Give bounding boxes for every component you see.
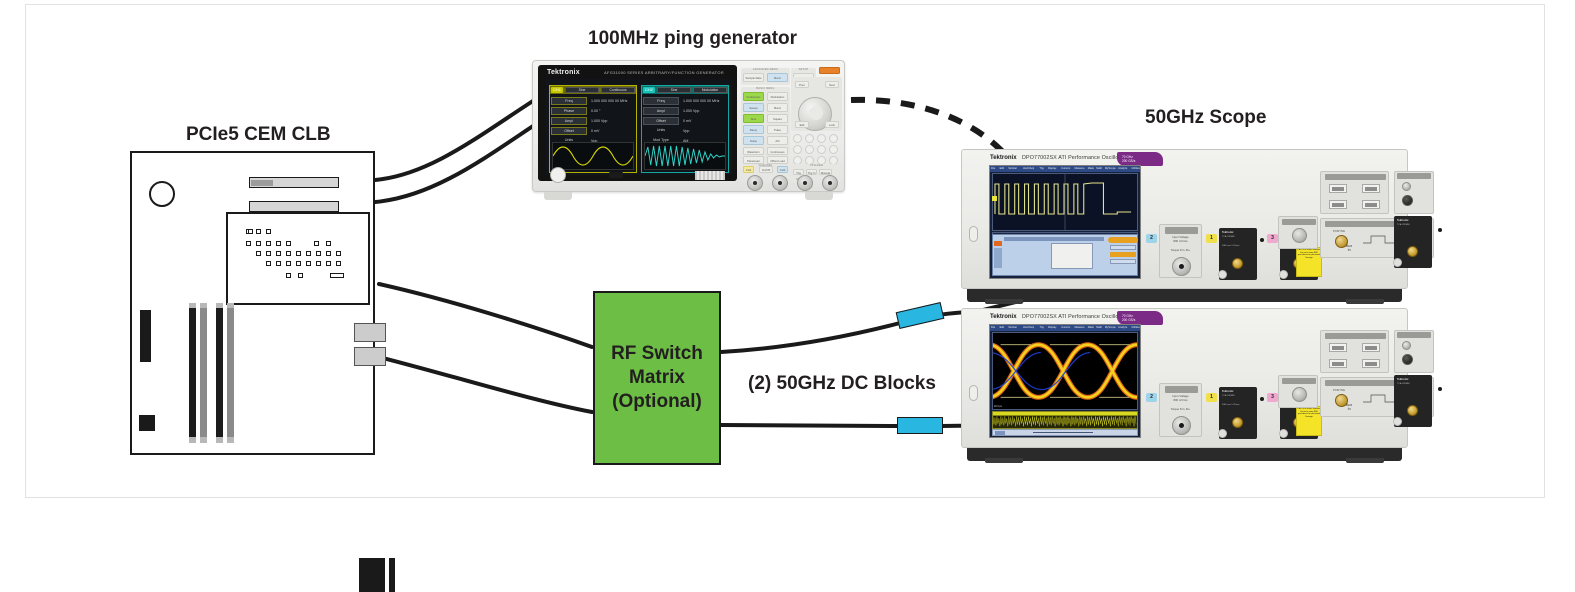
afg-ch1-value[interactable]: 1.000 Vpp — [589, 117, 635, 125]
asic-pad — [326, 251, 331, 256]
scope2-channel-tag-1: 1 — [1206, 393, 1217, 402]
afg-usb-port[interactable] — [609, 172, 623, 178]
scope1-usb-port-1[interactable] — [1329, 184, 1347, 193]
afg-key-enter[interactable] — [829, 145, 838, 154]
scope1-graticule — [992, 173, 1138, 231]
afg-channel-2-pane[interactable]: CH2 Sine Modulation Freq1.000 000 000 00… — [641, 85, 729, 173]
afg-ch2-row: Offset0 mV — [643, 116, 727, 125]
scope1-ati-voltage-label: Input Voltage800 mVrms — [1160, 236, 1201, 243]
label-generator: 100MHz ping generator — [588, 28, 797, 50]
afg-feet — [532, 192, 845, 200]
afg-button-lock[interactable]: Lock — [825, 121, 839, 128]
asic-pad — [314, 241, 319, 246]
asic-pad — [296, 261, 301, 266]
afg-button-on-off[interactable]: On/Off — [759, 166, 773, 173]
afg-group-basic-menu: BASIC MENU Continuous Modulation Sweep B… — [741, 87, 790, 163]
afg-ch1-rows: Freq1.000 000 000 00 MHz Phase0.00 ° Amp… — [551, 96, 635, 146]
afg-button-trig-in[interactable]: Trig In — [806, 169, 817, 175]
afg-ch1-value[interactable]: 0 mV — [589, 127, 635, 135]
scope1-menu-item[interactable]: Analyze — [1118, 167, 1127, 170]
scope2-menu-item[interactable]: Display — [1048, 326, 1057, 329]
afg-ch1-row: Freq1.000 000 000 00 MHz — [551, 96, 635, 105]
scope2-menu-item[interactable]: Cursors — [1061, 326, 1070, 329]
scope1-ati-torque-label: Torque 8 in. lbs. — [1160, 248, 1201, 252]
afg-button-prev[interactable]: Prev — [795, 81, 809, 88]
afg-ch2-row: Ampl1.000 Vpp — [643, 106, 727, 115]
cable-rfsw-to-dcblock-2 — [721, 425, 898, 426]
asic-pad — [256, 229, 261, 234]
asic-pad — [256, 241, 261, 246]
scope2-module-1[interactable]: Tektronix TCA-292MM 50Ω max 1.0Vrms — [1219, 387, 1257, 439]
scope2-menu-item[interactable]: Vertical — [1008, 326, 1017, 329]
scope2-module-1-latch[interactable] — [1218, 429, 1227, 438]
scope1-channel-tag-1: 1 — [1206, 234, 1217, 243]
oscilloscope-1[interactable]: Tektronix DPO77002SX ATI Performance Osc… — [961, 149, 1408, 304]
scope2-menu-item[interactable]: Measure — [1074, 326, 1084, 329]
afg-group-label: TRIGGER — [791, 164, 842, 167]
scope1-menu-item[interactable]: Horiz/Acq — [1023, 167, 1034, 170]
afg-group-label: SETUP — [791, 68, 816, 71]
afg-group-label: ADVANCED MENU — [741, 68, 790, 71]
afg-power-button[interactable] — [550, 167, 566, 183]
dimm-slot[interactable] — [189, 303, 196, 443]
afg-ch1-key[interactable]: Phase — [551, 107, 587, 115]
pcie-slot-1 — [249, 177, 339, 188]
afg-key-6[interactable] — [817, 145, 826, 154]
scope1-feet — [967, 289, 1402, 302]
afg-ch1-row: Phase0.00 ° — [551, 106, 635, 115]
scope2-module-1-jack[interactable] — [1232, 417, 1243, 428]
pcie-slot-2 — [249, 201, 339, 212]
afg-button-next[interactable]: Next — [825, 81, 839, 88]
scope1-usb-port-2[interactable] — [1362, 184, 1380, 193]
scope1-dc-cal-jack[interactable] — [1292, 228, 1307, 243]
afg-output-ch1-bnc[interactable] — [747, 175, 763, 191]
afg-ch2-waveform-preview — [644, 142, 726, 170]
label-dc-blocks: (2) 50GHz DC Blocks — [748, 373, 936, 395]
scope2-aux-out-jack[interactable] — [1402, 341, 1411, 350]
cable-clb-to-afg-2 — [375, 124, 536, 202]
scope1-control-panel[interactable] — [992, 234, 1138, 276]
scope2-menu-item[interactable]: Utilities — [1131, 326, 1139, 329]
scope2-menu-item[interactable]: File — [991, 326, 995, 329]
afg-ch2-key[interactable]: Units — [643, 127, 679, 135]
scope1-aux-in-label: AuxIn — [1346, 244, 1352, 253]
scope2-probe-comp-jack[interactable] — [1402, 354, 1413, 365]
afg-button-waveform-memory[interactable]: Waveform Memory — [743, 147, 764, 155]
scope1-module-1-latch[interactable] — [1218, 270, 1227, 279]
sma-connector-1[interactable] — [354, 323, 386, 342]
scope2-feet — [967, 448, 1402, 461]
scope1-menu-item[interactable]: Utilities — [1131, 167, 1139, 170]
afg-channel-1-pane[interactable]: CH1 Sine Continuous Freq1.000 000 000 00… — [549, 85, 637, 173]
diagram-canvas: PCIe5 CEM CLB 100MHz ping generator 50GH… — [0, 0, 1575, 522]
cable-rfsw-to-dcblock-1 — [721, 323, 900, 352]
scope2-menu-item[interactable]: Trig — [1039, 326, 1043, 329]
afg-button-arb[interactable]: Arb — [767, 136, 788, 145]
afg-ch1-row: Ampl1.000 Vpp — [551, 116, 635, 125]
scope2-density-plot — [992, 411, 1138, 429]
afg-button-ch1[interactable]: CH1 — [743, 166, 754, 173]
afg-ch2-row: UnitsVpp — [643, 126, 727, 135]
afg-button-pulse[interactable]: Pulse — [767, 125, 788, 134]
afg-button-offset-load[interactable]: Offset Load — [767, 156, 788, 164]
afg-display-bezel: Tektronix AFG31000 SERIES ARBITRARY/FUNC… — [538, 65, 737, 181]
afg-group-label: BASIC MENU — [741, 87, 790, 90]
asic-pad — [306, 251, 311, 256]
afg-vent-grille — [695, 171, 725, 180]
afg-ch1-waveform-preview — [552, 142, 634, 170]
asic-pad — [276, 241, 281, 246]
scope1-channel-tag-2: 2 — [1146, 234, 1157, 243]
scope1-menu-item[interactable]: Math — [1096, 167, 1102, 170]
pcie5-cem-clb-board[interactable] — [130, 151, 375, 455]
scope2-screen[interactable]: FileEditVerticalHoriz/AcqTrigDisplayCurs… — [989, 324, 1141, 438]
asic-pad-wide — [330, 273, 344, 278]
edge-connector-left — [140, 310, 151, 362]
asic-pad — [286, 273, 291, 278]
scope2-badge-text: 70 GHz200 GS/s — [1122, 314, 1135, 323]
scope1-menubar[interactable]: FileEditVerticalHoriz/AcqTrigDisplayCurs… — [990, 166, 1140, 172]
scope1-aux-module-latch[interactable] — [1393, 258, 1402, 267]
scope2-caution-label: CAUTION Static Sensitive Use wrist strap… — [1296, 406, 1322, 436]
scope2-dot-3 — [1438, 387, 1442, 391]
afg-button-burst2[interactable]: Burst — [767, 103, 788, 112]
scope1-aux-out-panel[interactable] — [1394, 171, 1434, 214]
afg-button-ch2[interactable]: CH2 — [777, 166, 788, 173]
scope1-caution-label: CAUTION Static Sensitive Use wrist strap… — [1296, 247, 1322, 277]
asic-pad — [306, 261, 311, 266]
scope1-aux-module[interactable]: Tektronix TCA-292MM — [1394, 216, 1432, 268]
scope1-menu-item[interactable]: File — [991, 167, 995, 170]
afg-button-sweep[interactable]: Sweep — [743, 103, 764, 112]
afg-key-4[interactable] — [793, 145, 802, 154]
scope2-ati-jack[interactable] — [1172, 416, 1191, 435]
oscilloscope-2[interactable]: Tektronix DPO77002SX ATI Performance Osc… — [961, 308, 1408, 463]
afg-ch2-runmode-select[interactable]: Modulation — [693, 87, 727, 93]
scope1-aux-out-jack[interactable] — [1402, 182, 1411, 191]
afg-ch1-value[interactable]: 1.000 000 000 00 MHz — [589, 97, 635, 105]
afg-ch2-row: Freq1.000 000 000 00 MHz — [643, 96, 727, 105]
scope2-menu-item[interactable]: Math — [1096, 326, 1102, 329]
afg-group-advanced-menu: ADVANCED MENU Sample Rate Burst — [741, 68, 790, 85]
scope2-brand: Tektronix — [990, 314, 1017, 320]
scope2-channel-tag-2: 2 — [1146, 393, 1157, 402]
scope2-dot-1 — [1260, 397, 1264, 401]
afg-ch2-value[interactable]: 1.000 Vpp — [681, 107, 727, 115]
afg-ch1-tag: CH1 — [551, 87, 563, 93]
scope2-menu-item[interactable]: Analyze — [1118, 326, 1127, 329]
afg-ch1-waveform-select[interactable]: Sine — [565, 87, 599, 93]
afg-front-panel[interactable]: ADVANCED MENU Sample Rate Burst BASIC ME… — [741, 65, 842, 181]
afg-run-stop-button[interactable] — [819, 67, 840, 74]
arbitrary-function-generator[interactable]: Tektronix AFG31000 SERIES ARBITRARY/FUNC… — [532, 60, 845, 208]
afg-screen[interactable]: CH1 Sine Continuous Freq1.000 000 000 00… — [546, 79, 732, 175]
afg-ch2-value[interactable]: Vpp — [681, 127, 727, 135]
asic-pad — [326, 241, 331, 246]
afg-ch2-key[interactable]: Freq — [643, 97, 679, 105]
asic-pad — [246, 241, 251, 246]
afg-ch2-value[interactable]: 1.000 000 000 00 MHz — [681, 97, 727, 105]
scope1-menu-item[interactable]: Trig — [1039, 167, 1043, 170]
asic-pad — [316, 251, 321, 256]
scope1-channel-tag-3: 3 — [1267, 234, 1278, 243]
rf-switch-matrix[interactable]: RF SwitchMatrix(Optional) — [593, 291, 721, 465]
scope1-ati-cap — [1165, 227, 1198, 234]
afg-button-sine[interactable]: Sine — [743, 114, 764, 123]
scope2-aux-module[interactable]: Tektronix TCA-292MM — [1394, 375, 1432, 427]
asic-pad — [248, 229, 253, 234]
scope2-ati-input-port[interactable]: Input Voltage800 mVrms Torque 8 in. lbs. — [1159, 383, 1202, 437]
scope1-module-1[interactable]: Tektronix TCA-292MM 50Ω max 1.0Vrms — [1219, 228, 1257, 280]
scope1-menu-item[interactable]: Display — [1048, 167, 1057, 170]
afg-brand-text: Tektronix — [547, 69, 580, 76]
scope2-aux-out-panel[interactable] — [1394, 330, 1434, 373]
afg-ch1-header: CH1 Sine Continuous — [550, 86, 636, 94]
scope1-dot-3 — [1438, 228, 1442, 232]
afg-button-ramp[interactable]: Ramp — [743, 125, 764, 134]
afg-series-text: AFG31000 SERIES ARBITRARY/FUNCTION GENER… — [604, 70, 724, 75]
scope2-chassis: Tektronix DPO77002SX ATI Performance Osc… — [961, 308, 1408, 448]
scope1-module-2-latch[interactable] — [1279, 270, 1288, 279]
afg-button-continuous[interactable]: Continuous — [743, 92, 764, 101]
scope1-chassis: Tektronix DPO77002SX ATI Performance Osc… — [961, 149, 1408, 289]
scope1-badge-text: 70 GHz200 GS/s — [1122, 155, 1135, 164]
scope1-menu-item[interactable]: Measure — [1074, 167, 1084, 170]
cable-clb-to-rfsw-1 — [379, 284, 592, 347]
scope2-usb-port-4[interactable] — [1362, 359, 1380, 368]
afg-ext-mod-bnc[interactable] — [822, 175, 838, 191]
asic-pad — [266, 241, 271, 246]
afg-ch1-key[interactable]: Freq — [551, 97, 587, 105]
edge-connector-bottom-fin — [389, 558, 395, 592]
scope2-menu-item[interactable]: Edit — [1000, 326, 1004, 329]
scope2-badge: 70 GHz200 GS/s — [1117, 311, 1163, 325]
afg-ch2-tag: CH2 — [643, 87, 655, 93]
asic-pad — [256, 251, 261, 256]
afg-button-sample-rate[interactable]: Sample Rate — [743, 73, 764, 82]
afg-key-units[interactable] — [829, 134, 838, 143]
afg-key-9[interactable] — [817, 134, 826, 143]
asic-pad — [336, 261, 341, 266]
scope2-usb-port-1[interactable] — [1329, 343, 1347, 352]
asic-pad — [286, 241, 291, 246]
scope2-aux-in-label: AuxIn — [1346, 403, 1352, 412]
scope2-module-2-latch[interactable] — [1279, 429, 1288, 438]
scope2-menu-item[interactable]: Mask — [1088, 326, 1094, 329]
scope2-ati-torque-label: Torque 8 in. lbs. — [1160, 407, 1201, 411]
scope2-ati-voltage-label: Input Voltage800 mVrms — [1160, 395, 1201, 402]
scope2-dc-cal-jack[interactable] — [1292, 387, 1307, 402]
scope2-aux-module-jack[interactable] — [1407, 405, 1418, 416]
scope2-menubar[interactable]: FileEditVerticalHoriz/AcqTrigDisplayCurs… — [990, 325, 1140, 331]
scope1-brand: Tektronix — [990, 155, 1017, 161]
asic-pad — [286, 261, 291, 266]
scope1-menu-item[interactable]: Edit — [1000, 167, 1004, 170]
scope1-probe-comp-jack[interactable] — [1402, 195, 1413, 206]
afg-button-parameter[interactable]: Parameter — [743, 156, 764, 164]
afg-button-square[interactable]: Square — [767, 114, 788, 123]
scope1-menu-item[interactable]: Mask — [1088, 167, 1094, 170]
afg-ch1-row: Offset0 mV — [551, 126, 635, 135]
afg-ch2-header: CH2 Sine Modulation — [642, 86, 728, 94]
afg-button-trig-out[interactable]: Trig Out — [793, 169, 804, 175]
scope2-usb-panel[interactable] — [1320, 330, 1389, 373]
afg-ch1-value[interactable]: 0.00 ° — [589, 107, 635, 115]
scope1-menu-item[interactable]: MyScope — [1105, 167, 1116, 170]
scope1-ati-jack[interactable] — [1172, 257, 1191, 276]
scope2-channel-tag-3: 3 — [1267, 393, 1278, 402]
scope1-usb-port-4[interactable] — [1362, 200, 1380, 209]
afg-button-edit[interactable]: Edit — [795, 121, 809, 128]
asic-pad — [336, 251, 341, 256]
afg-chassis: Tektronix AFG31000 SERIES ARBITRARY/FUNC… — [532, 60, 845, 192]
afg-button-continuous-edit[interactable]: Continuous Edit — [767, 147, 788, 155]
scope2-power-button[interactable] — [969, 385, 978, 401]
scope1-badge: 70 GHz200 GS/s — [1117, 152, 1163, 166]
scope1-usb-panel[interactable] — [1320, 171, 1389, 214]
scope1-aux-module-jack[interactable] — [1407, 246, 1418, 257]
asic-pad — [296, 251, 301, 256]
asic-pad — [266, 229, 271, 234]
component-square — [139, 415, 155, 431]
label-scope: 50GHz Scope — [1145, 107, 1266, 129]
afg-output-ch2-bnc[interactable] — [772, 175, 788, 191]
afg-key-5[interactable] — [805, 145, 814, 154]
afg-key-8[interactable] — [805, 134, 814, 143]
afg-ch2-key[interactable]: Ampl — [643, 107, 679, 115]
asic-pad — [316, 261, 321, 266]
scope1-usb-port-3[interactable] — [1329, 200, 1347, 209]
afg-ch1-key[interactable]: Ampl — [551, 117, 587, 125]
afg-ch2-value[interactable]: 0 mV — [681, 117, 727, 125]
asic-pad — [266, 261, 271, 266]
scope1-module-1-jack[interactable] — [1232, 258, 1243, 269]
mounting-hole-icon — [149, 181, 175, 207]
afg-button-burst[interactable]: Burst — [767, 73, 788, 82]
scope2-menu-item[interactable]: MyScope — [1105, 326, 1116, 329]
asic-pad — [276, 251, 281, 256]
scope2-menu-item[interactable]: Horiz/Acq — [1023, 326, 1034, 329]
afg-button-noise[interactable]: Noise — [743, 136, 764, 145]
scope2-status-bar — [992, 429, 1138, 436]
dimm-slot[interactable] — [200, 303, 207, 443]
scope2-eye-diagram: 20.0 ps — [992, 332, 1138, 410]
scope2-ati-cap — [1165, 386, 1198, 393]
scope1-menu-item[interactable]: Vertical — [1008, 167, 1017, 170]
rf-switch-matrix-label: RF SwitchMatrix(Optional) — [611, 342, 703, 415]
afg-ch1-key[interactable]: Offset — [551, 127, 587, 135]
sma-connector-2[interactable] — [354, 347, 386, 366]
scope2-usb-port-2[interactable] — [1362, 343, 1380, 352]
asic-pad-array — [232, 219, 365, 301]
dimm-slot[interactable] — [227, 303, 234, 443]
afg-trigger-bnc[interactable] — [797, 175, 813, 191]
asic-pad — [326, 261, 331, 266]
afg-ch1-runmode-select[interactable]: Continuous — [601, 87, 635, 93]
edge-connector-bottom — [359, 558, 385, 592]
asic-pad — [298, 273, 303, 278]
afg-key-7[interactable] — [793, 134, 802, 143]
asic-outline — [226, 212, 370, 305]
dimm-slot[interactable] — [216, 303, 223, 443]
label-clb: PCIe5 CEM CLB — [186, 124, 331, 146]
scope1-screen[interactable]: FileEditVerticalHoriz/AcqTrigDisplayCurs… — [989, 165, 1141, 279]
asic-pad — [286, 251, 291, 256]
scope2-dc-pulse-cal-output[interactable] — [1278, 375, 1318, 408]
scope2-aux-module-latch[interactable] — [1393, 417, 1402, 426]
asic-pad — [266, 251, 271, 256]
scope2-positive-label: POSITIVE — [1333, 389, 1345, 392]
afg-button-modulation[interactable]: Modulation — [767, 92, 788, 101]
scope1-positive-label: POSITIVE — [1333, 230, 1345, 233]
scope1-dc-pulse-cal-output[interactable] — [1278, 216, 1318, 249]
afg-ch2-key[interactable]: Offset — [643, 117, 679, 125]
scope1-menu-item[interactable]: Cursors — [1061, 167, 1070, 170]
cable-clb-to-rfsw-2 — [379, 357, 592, 412]
dc-block-2[interactable] — [897, 417, 943, 434]
afg-ch2-waveform-select[interactable]: Sine — [657, 87, 691, 93]
scope1-power-button[interactable] — [969, 226, 978, 242]
asic-pad — [276, 261, 281, 266]
scope1-dot-1 — [1260, 238, 1264, 242]
scope1-ati-input-port[interactable]: Input Voltage800 mVrms Torque 8 in. lbs. — [1159, 224, 1202, 278]
scope2-usb-port-3[interactable] — [1329, 359, 1347, 368]
